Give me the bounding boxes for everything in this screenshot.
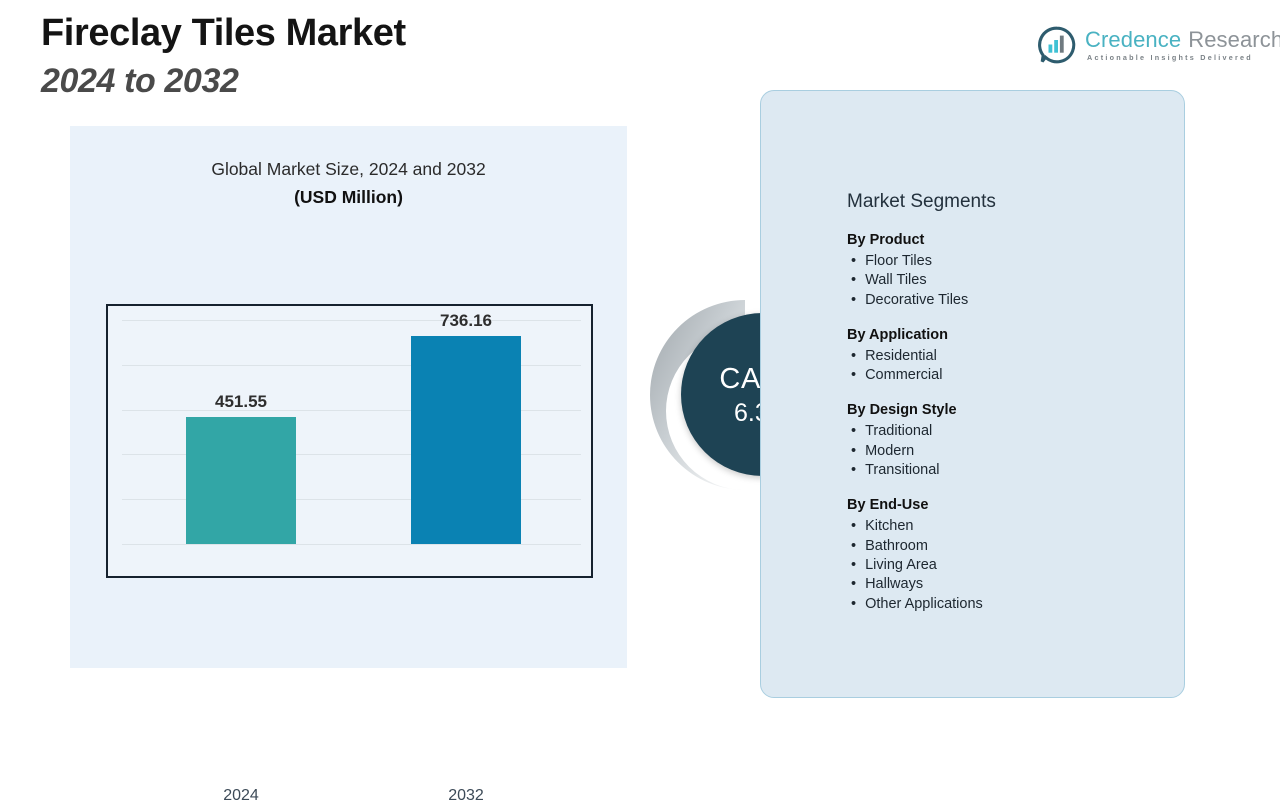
bar-2032 [411, 336, 521, 544]
segment-item: •Transitional [847, 461, 1167, 480]
gridline [122, 544, 581, 545]
bullet-icon: • [851, 442, 856, 461]
segment-item-label: Wall Tiles [865, 271, 927, 290]
segment-item: •Floor Tiles [847, 252, 1167, 271]
page-subtitle: 2024 to 2032 [41, 58, 406, 104]
segment-group: By Design Style•Traditional•Modern•Trans… [847, 401, 1167, 480]
bullet-icon: • [851, 422, 856, 441]
segment-item: •Living Area [847, 556, 1167, 575]
segment-item: •Decorative Tiles [847, 291, 1167, 310]
segment-item: •Wall Tiles [847, 271, 1167, 290]
segment-item: •Hallways [847, 575, 1167, 594]
market-segments-list: By Product•Floor Tiles•Wall Tiles•Decora… [847, 231, 1167, 614]
segment-item: •Traditional [847, 422, 1167, 441]
chart-bars: 451.552024736.162032 [108, 306, 591, 544]
segment-item-label: Living Area [865, 556, 937, 575]
bullet-icon: • [851, 291, 856, 310]
logo-tagline: Actionable Insights Delivered [1087, 53, 1280, 62]
bar-value-label: 451.55 [156, 392, 326, 412]
segment-item: •Bathroom [847, 537, 1167, 556]
bullet-icon: • [851, 366, 856, 385]
segment-item-label: Decorative Tiles [865, 291, 968, 310]
segment-group: By Product•Floor Tiles•Wall Tiles•Decora… [847, 231, 1167, 310]
page-title: Fireclay Tiles Market [41, 8, 406, 58]
chart-title-units: (USD Million) [70, 187, 627, 208]
segment-group-title: By Design Style [847, 401, 1167, 420]
title-block: Fireclay Tiles Market 2024 to 2032 [41, 8, 406, 104]
x-axis-label: 2032 [381, 787, 551, 805]
segment-group: By Application•Residential•Commercial [847, 326, 1167, 386]
segment-group-title: By End-Use [847, 496, 1167, 515]
segment-group: By End-Use•Kitchen•Bathroom•Living Area•… [847, 496, 1167, 613]
segment-group-title: By Product [847, 231, 1167, 250]
segment-item: •Modern [847, 442, 1167, 461]
segment-item-label: Modern [865, 442, 914, 461]
logo-wordmark: Credence Research [1085, 28, 1280, 52]
segment-item-label: Hallways [865, 575, 923, 594]
bar-value-label: 736.16 [381, 311, 551, 331]
segment-group-title: By Application [847, 326, 1167, 345]
segment-item-label: Floor Tiles [865, 252, 932, 271]
bullet-icon: • [851, 271, 856, 290]
segment-item: •Commercial [847, 366, 1167, 385]
bullet-icon: • [851, 595, 856, 614]
logo-word-credence: Credence [1085, 28, 1181, 52]
market-segments-panel: Market Segments By Product•Floor Tiles•W… [760, 90, 1185, 698]
plot-inner: 451.552024736.162032 [108, 306, 591, 576]
bullet-icon: • [851, 517, 856, 536]
bullet-icon: • [851, 537, 856, 556]
logo-word-research: Research [1188, 28, 1280, 52]
market-segments-heading: Market Segments [847, 191, 996, 213]
segment-item-label: Kitchen [865, 517, 913, 536]
segment-item: •Residential [847, 347, 1167, 366]
bullet-icon: • [851, 252, 856, 271]
bar-chart-bubble-icon [1038, 26, 1076, 64]
segment-item: •Other Applications [847, 595, 1167, 614]
chart-panel: Global Market Size, 2024 and 2032 (USD M… [70, 126, 627, 668]
brand-logo: Credence Research Actionable Insights De… [1038, 26, 1280, 64]
bullet-icon: • [851, 575, 856, 594]
segment-item-label: Transitional [865, 461, 939, 480]
bar-chart-plot: 451.552024736.162032 [106, 304, 593, 578]
chart-title-primary: Global Market Size, 2024 and 2032 [70, 159, 627, 180]
segment-item-label: Traditional [865, 422, 932, 441]
bullet-icon: • [851, 556, 856, 575]
x-axis-label: 2024 [156, 787, 326, 805]
segment-item-label: Other Applications [865, 595, 983, 614]
bullet-icon: • [851, 461, 856, 480]
segment-item-label: Residential [865, 347, 937, 366]
segment-item: •Kitchen [847, 517, 1167, 536]
segment-item-label: Bathroom [865, 537, 928, 556]
segment-item-label: Commercial [865, 366, 942, 385]
bar-2024 [186, 417, 296, 544]
bullet-icon: • [851, 347, 856, 366]
logo-text: Credence Research Actionable Insights De… [1085, 28, 1280, 62]
